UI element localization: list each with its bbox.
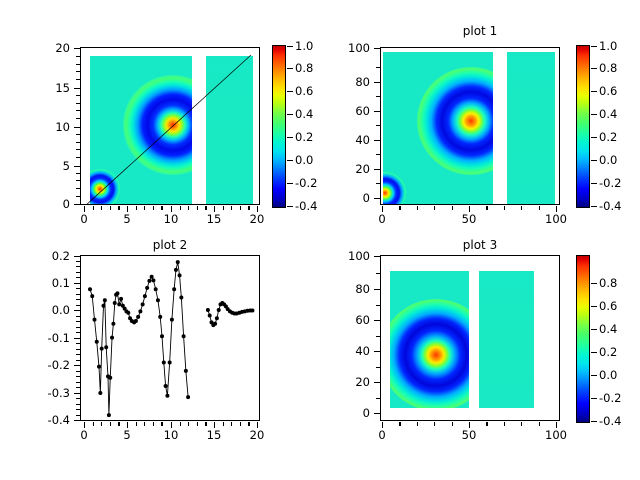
xtick-label: 0 [368, 430, 396, 441]
ripple-source-b [383, 172, 406, 204]
colorbar-tick-label: 1.0 [599, 41, 617, 52]
ytick-label: 0 [42, 199, 70, 210]
ytick-label: 60 [338, 106, 370, 117]
colorbar-tick-label: 0.4 [599, 324, 617, 335]
ytick-label: 15 [42, 83, 70, 94]
axes-bottom-left [80, 255, 260, 421]
colorbar-tick-label: -0.2 [295, 178, 317, 189]
ytick-label: -0.4 [36, 415, 70, 426]
colorbar-tick-label: -0.2 [599, 178, 621, 189]
image-block-1 [390, 271, 469, 408]
colorbar-tick-label: 0.8 [295, 63, 313, 74]
colorbar-tick-label: 0.6 [599, 86, 617, 97]
colorbar-tick-label: -0.2 [599, 393, 621, 404]
ytick-label: -0.1 [36, 333, 70, 344]
colorbar-tick-label: 0.0 [599, 155, 617, 166]
ytick-label: 40 [338, 135, 370, 146]
figure-canvas: 0 5 10 15 20 0 [0, 0, 640, 480]
ytick-label: 80 [338, 77, 370, 88]
ytick-label: 0.1 [36, 278, 70, 289]
ytick-label: 0.0 [36, 305, 70, 316]
panel-bottom-left: plot 2 [0, 236, 320, 480]
ytick-label: 5 [42, 161, 70, 172]
image-block-2 [479, 271, 534, 408]
xtick-label: 0 [70, 214, 98, 225]
ripple-source-a [390, 299, 469, 408]
colorbar-tick-label: 0.2 [295, 132, 313, 143]
ytick-label: 10 [42, 122, 70, 133]
xtick-label: 100 [540, 430, 572, 441]
colorbar-top-left [272, 45, 286, 208]
colorbar-tick-label: 0.6 [599, 301, 617, 312]
ytick-label: 0 [338, 408, 370, 419]
ytick-label: -0.3 [36, 388, 70, 399]
ytick-label: 20 [338, 164, 370, 175]
xtick-label: 0 [368, 214, 396, 225]
colorbar-tick-label: 0.2 [599, 347, 617, 358]
xtick-label: 10 [157, 214, 185, 225]
line-series-plot [81, 256, 260, 421]
ripple-source-a [417, 67, 493, 175]
xtick-label: 5 [113, 430, 141, 441]
xtick-label: 50 [455, 430, 483, 441]
panel-bottom-right-title: plot 3 [380, 238, 580, 252]
axes-top-right [380, 47, 560, 205]
ytick-label: 0.2 [36, 251, 70, 262]
ytick-label: 100 [338, 251, 370, 262]
colorbar-tick-label: -0.4 [599, 416, 621, 427]
colorbar-tick-label: -0.4 [599, 201, 621, 212]
xtick-label: 20 [243, 214, 271, 225]
colorbar-tick-label: 0.0 [599, 370, 617, 381]
colorbar-tick-label: 0.6 [295, 86, 313, 97]
axes-top-left [80, 47, 260, 205]
ytick-label: 100 [338, 43, 370, 54]
axes-bottom-right [380, 255, 560, 421]
diagonal-overlay-line [81, 48, 260, 205]
colorbar-tick-label: 0.0 [295, 155, 313, 166]
panel-top-right: plot 1 0 20 40 60 80 100 [320, 22, 640, 240]
ytick-label: 0 [338, 193, 370, 204]
xtick-label: 20 [243, 430, 271, 441]
panel-bottom-right: plot 3 0 20 40 60 80 100 [320, 236, 640, 480]
colorbar-tick-label: 0.4 [599, 109, 617, 120]
panel-top-left: 0 5 10 15 20 0 [0, 22, 320, 240]
ytick-label: 80 [338, 284, 370, 295]
image-block-2 [507, 52, 555, 204]
colorbar-top-right [576, 45, 590, 208]
xtick-label: 50 [455, 214, 483, 225]
colorbar-tick-label: 0.8 [599, 63, 617, 74]
colorbar-tick-label: 1.0 [295, 41, 313, 52]
ytick-label: 20 [338, 377, 370, 388]
xtick-label: 0 [70, 430, 98, 441]
ytick-label: -0.2 [36, 360, 70, 371]
colorbar-bottom-right [576, 255, 590, 423]
colorbar-tick-label: 0.8 [599, 278, 617, 289]
xtick-label: 10 [157, 430, 185, 441]
xtick-label: 15 [200, 214, 228, 225]
xtick-label: 15 [200, 430, 228, 441]
ytick-label: 60 [338, 315, 370, 326]
panel-bottom-left-title: plot 2 [80, 238, 260, 252]
colorbar-tick-label: 0.2 [599, 132, 617, 143]
image-block-1 [383, 52, 493, 204]
ytick-label: 20 [42, 43, 70, 54]
ytick-label: 40 [338, 346, 370, 357]
colorbar-tick-label: 0.4 [295, 109, 313, 120]
xtick-label: 100 [540, 214, 572, 225]
colorbar-tick-label: -0.4 [295, 201, 317, 212]
panel-top-right-title: plot 1 [380, 24, 580, 38]
xtick-label: 5 [113, 214, 141, 225]
